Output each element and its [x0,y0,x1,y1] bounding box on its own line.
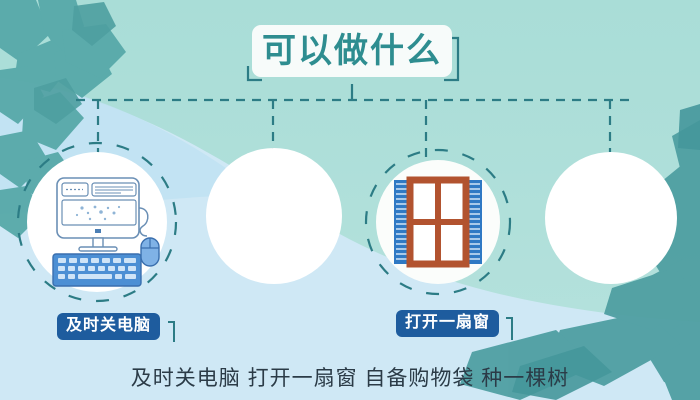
window-shutters-icon [394,180,482,264]
node-label-open-window[interactable]: 打开一扇窗 [396,310,499,337]
infographic-canvas: 可以做什么 及时关电脑 打开一扇窗 及时关电脑 打开一扇窗 自备购物袋 种一棵树 [0,0,700,400]
title-box: 可以做什么 [252,25,452,77]
title-block: 可以做什么 [252,25,452,81]
node-circle-4 [545,152,677,284]
node-circle-2 [206,148,342,284]
bottom-caption: 及时关电脑 打开一扇窗 自备购物袋 种一棵树 [0,362,700,392]
node-label-shutdown-computer[interactable]: 及时关电脑 [57,313,160,340]
page-title: 可以做什么 [262,34,442,68]
